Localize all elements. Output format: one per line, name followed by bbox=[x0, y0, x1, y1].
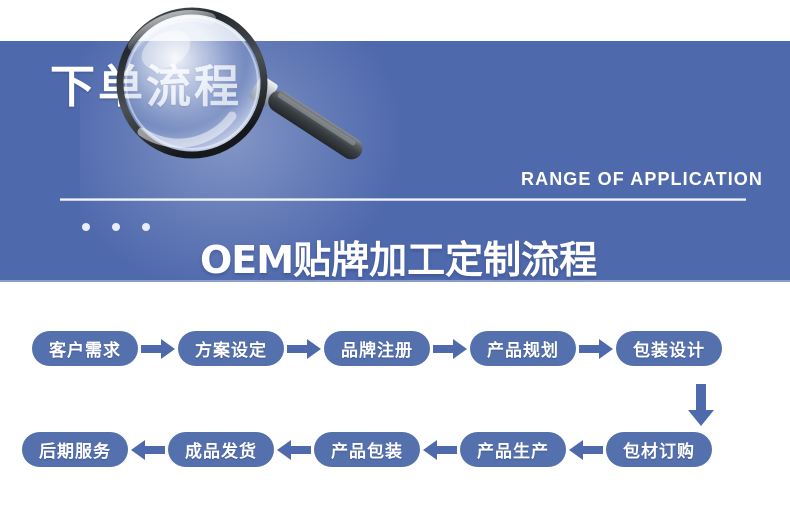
page-title: OEM贴牌加工定制流程 bbox=[200, 229, 597, 282]
arrow-left-icon bbox=[420, 432, 460, 467]
flow-step-4[interactable]: 产品规划 bbox=[470, 331, 576, 366]
flow-step-10[interactable]: 后期服务 bbox=[22, 432, 128, 467]
page-title-latin: OEM bbox=[200, 238, 293, 282]
dot-1 bbox=[82, 223, 90, 231]
arrow-right-icon bbox=[430, 331, 470, 366]
arrow-right-icon bbox=[576, 331, 616, 366]
arrow-down-icon bbox=[688, 384, 714, 426]
arrow-left-icon bbox=[128, 432, 168, 467]
flow-step-3[interactable]: 品牌注册 bbox=[324, 331, 430, 366]
header-subtitle-en: RANGE OF APPLICATION bbox=[521, 169, 763, 190]
flow-step-7[interactable]: 产品生产 bbox=[460, 432, 566, 467]
flow-row-2: 后期服务 成品发货 产品包装 产品生产 包材订购 bbox=[22, 432, 712, 467]
decorative-dots bbox=[82, 223, 150, 231]
header-divider bbox=[60, 198, 746, 201]
flow-step-1[interactable]: 客户需求 bbox=[32, 331, 138, 366]
arrow-left-icon bbox=[274, 432, 314, 467]
arrow-left-icon bbox=[566, 432, 606, 467]
flow-step-6[interactable]: 包材订购 bbox=[606, 432, 712, 467]
page-title-cn: 贴牌加工定制流程 bbox=[293, 238, 597, 282]
flow-step-5[interactable]: 包装设计 bbox=[616, 331, 722, 366]
flow-step-2[interactable]: 方案设定 bbox=[178, 331, 284, 366]
process-flowchart: 客户需求 方案设定 品牌注册 产品规划 包装设计 后期服务 bbox=[0, 300, 790, 529]
flow-step-9[interactable]: 成品发货 bbox=[168, 432, 274, 467]
poster-canvas: RANGE OF APPLICATION OEM贴牌加工定制流程 下单流程 bbox=[0, 0, 790, 529]
arrow-right-icon bbox=[284, 331, 324, 366]
dot-3 bbox=[142, 223, 150, 231]
dot-2 bbox=[112, 223, 120, 231]
arrow-right-icon bbox=[138, 331, 178, 366]
header-title-cn: 下单流程 bbox=[50, 50, 242, 115]
flow-row-1: 客户需求 方案设定 品牌注册 产品规划 包装设计 bbox=[32, 331, 722, 366]
flow-step-8[interactable]: 产品包装 bbox=[314, 432, 420, 467]
